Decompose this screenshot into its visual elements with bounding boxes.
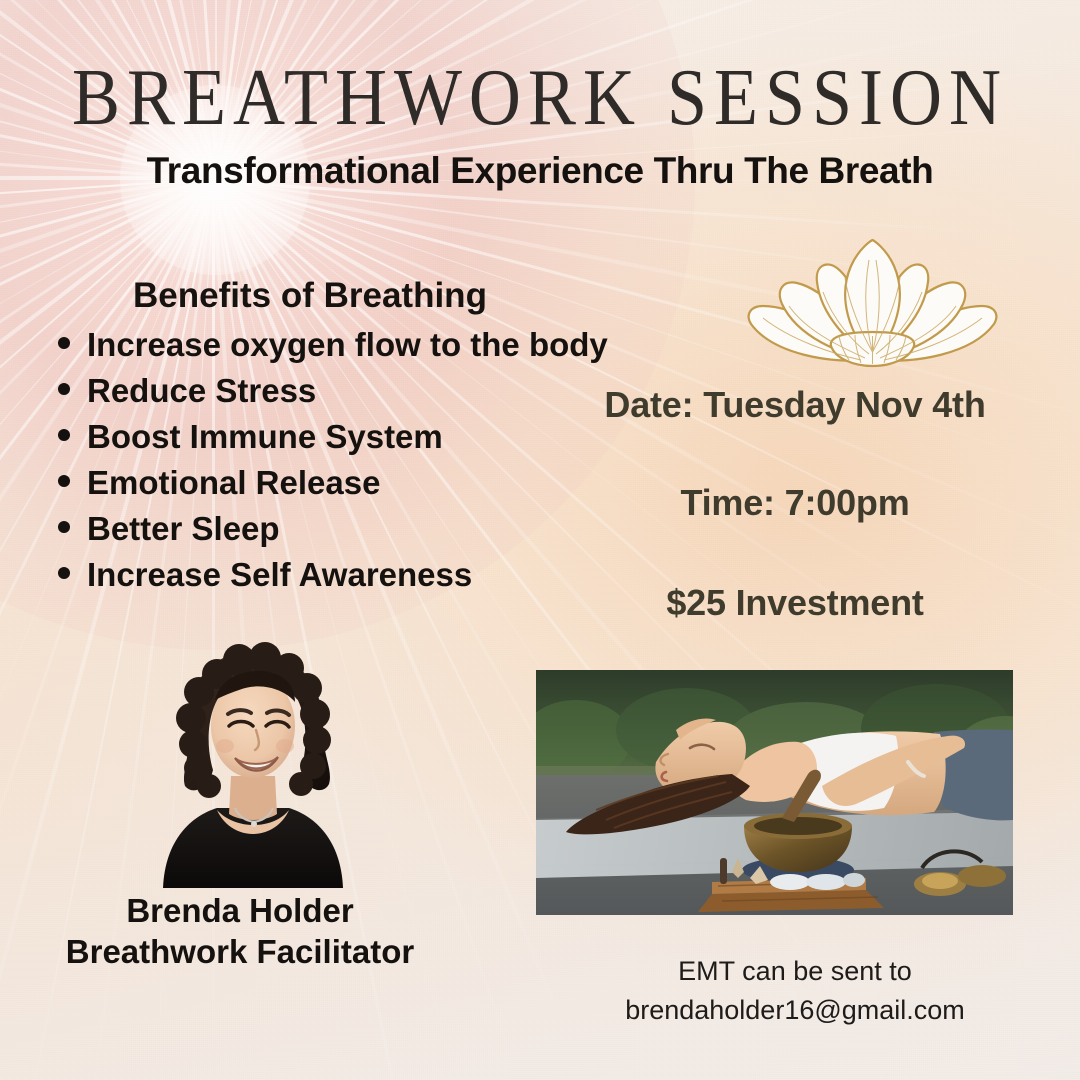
benefits-list: Increase oxygen flow to the body Reduce … [58, 322, 608, 598]
facilitator-role: Breathwork Facilitator [10, 931, 470, 972]
lotus-flower-icon [745, 232, 1000, 372]
benefit-label: Better Sleep [87, 506, 280, 552]
event-price: $25 Investment [560, 582, 1030, 624]
list-item: Reduce Stress [58, 368, 608, 414]
benefit-label: Reduce Stress [87, 368, 316, 414]
event-date: Date: Tuesday Nov 4th [560, 384, 1030, 426]
facilitator-portrait [143, 618, 361, 888]
list-item: Boost Immune System [58, 414, 608, 460]
benefit-label: Boost Immune System [87, 414, 443, 460]
page-subtitle: Transformational Experience Thru The Bre… [0, 150, 1080, 192]
benefit-label: Emotional Release [87, 460, 380, 506]
session-photo [536, 670, 1013, 915]
event-time: Time: 7:00pm [560, 482, 1030, 524]
bullet-icon [58, 337, 70, 349]
list-item: Emotional Release [58, 460, 608, 506]
list-item: Increase Self Awareness [58, 552, 608, 598]
list-item: Better Sleep [58, 506, 608, 552]
contact-email: brendaholder16@gmail.com [560, 991, 1030, 1030]
breathwork-session-flyer: BREATHWORK SESSION Transformational Expe… [0, 0, 1080, 1080]
benefits-heading: Benefits of Breathing [60, 276, 560, 316]
event-details: Date: Tuesday Nov 4th Time: 7:00pm $25 I… [560, 384, 1030, 624]
benefit-label: Increase oxygen flow to the body [87, 322, 608, 368]
bullet-icon [58, 475, 70, 487]
bullet-icon [58, 383, 70, 395]
bullet-icon [58, 521, 70, 533]
list-item: Increase oxygen flow to the body [58, 322, 608, 368]
bullet-icon [58, 429, 70, 441]
facilitator-caption: Brenda Holder Breathwork Facilitator [10, 890, 470, 972]
contact-line-1: EMT can be sent to [560, 952, 1030, 991]
benefit-label: Increase Self Awareness [87, 552, 472, 598]
page-title: BREATHWORK SESSION [0, 51, 1080, 144]
contact-info: EMT can be sent to brendaholder16@gmail.… [560, 952, 1030, 1030]
facilitator-name: Brenda Holder [10, 890, 470, 931]
bullet-icon [58, 567, 70, 579]
